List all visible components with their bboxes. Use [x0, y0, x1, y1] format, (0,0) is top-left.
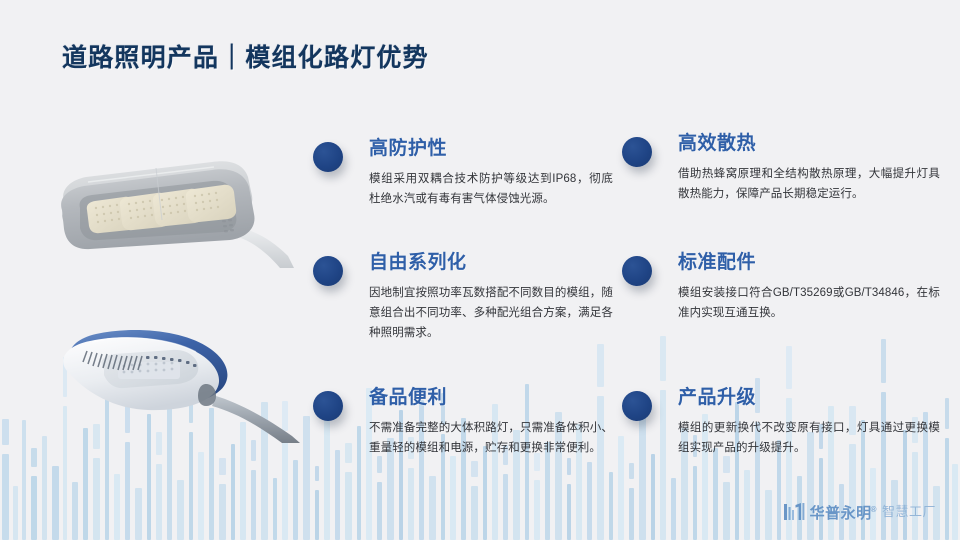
skyline-bar-stub — [315, 466, 319, 481]
feature-block-3: 标准配件 模组安装接口符合GB/T35269或GB/T34846，在标准内实现互… — [622, 252, 940, 323]
bullet-dot-icon — [313, 142, 343, 172]
skyline-bar — [2, 454, 9, 540]
brand-logo: 华普永明® 智慧工厂 — [783, 501, 936, 523]
skyline-bar — [273, 478, 277, 540]
feature-block-2: 自由系列化 因地制宜按照功率瓦数搭配不同数目的模组，随意组合出不同功率、多种配光… — [313, 252, 613, 343]
skyline-bar — [315, 490, 319, 540]
feature-text-1: 借助热蜂窝原理和全结构散热原理，大幅提升灯具散热能力，保障产品长期稳定运行。 — [678, 164, 940, 204]
feature-text-3: 模组安装接口符合GB/T35269或GB/T34846，在标准内实现互通互换。 — [678, 283, 940, 323]
skyline-bar — [609, 472, 613, 540]
led-street-lamp-gray-image — [36, 150, 294, 270]
feature-block-4: 备品便利 不需准备完整的大体积路灯，只需准备体积小、重量轻的模组和电源，贮存和更… — [313, 387, 613, 458]
skyline-bar — [13, 486, 18, 540]
skyline-bar — [52, 466, 59, 540]
skyline-bar — [156, 464, 162, 540]
skyline-bar — [483, 446, 487, 540]
skyline-bar-stub — [377, 456, 382, 473]
feature-title-5: 产品升级 — [678, 387, 940, 409]
skyline-bar — [42, 436, 47, 540]
skyline-bar — [377, 482, 382, 540]
skyline-bar — [114, 474, 120, 540]
skyline-bar — [93, 458, 100, 540]
skyline-bar-stub — [881, 339, 886, 383]
skyline-bar — [135, 488, 142, 540]
logo-brand-text: 华普永明® — [810, 501, 877, 523]
feature-text-5: 模组的更新换代不改变原有接口，灯具通过更换模组实现产品的升级提升。 — [678, 418, 940, 458]
led-street-lamp-blue-image — [20, 318, 300, 443]
skyline-bar-stub — [945, 398, 949, 429]
skyline-bar — [303, 416, 310, 540]
skyline-bar — [231, 444, 235, 540]
skyline-bar-stub — [219, 458, 226, 475]
skyline-bar-stub — [786, 346, 792, 389]
feature-title-1: 高效散热 — [678, 133, 940, 155]
skyline-bar — [629, 488, 634, 540]
skyline-bar — [31, 476, 37, 540]
feature-title-0: 高防护性 — [369, 138, 613, 160]
logo-registered-mark: ® — [871, 505, 877, 514]
skyline-bar — [765, 490, 772, 540]
skyline-bar — [219, 484, 226, 540]
skyline-bar — [587, 462, 592, 540]
feature-block-1: 高效散热 借助热蜂窝原理和全结构散热原理，大幅提升灯具散热能力，保障产品长期稳定… — [622, 133, 940, 204]
skyline-bar — [198, 452, 204, 540]
skyline-bar-stub — [629, 463, 634, 479]
skyline-bar — [72, 482, 78, 540]
feature-block-5: 产品升级 模组的更新换代不改变原有接口，灯具通过更换模组实现产品的升级提升。 — [622, 387, 940, 458]
skyline-bar — [450, 456, 456, 540]
skyline-bar — [651, 454, 655, 540]
skyline-bar — [335, 450, 340, 540]
skyline-bar-stub — [597, 344, 604, 387]
skyline-bar — [471, 486, 478, 540]
skyline-bar-stub — [31, 448, 37, 467]
skyline-bar — [713, 448, 718, 540]
bullet-dot-icon — [313, 256, 343, 286]
skyline-bar — [408, 468, 414, 540]
feature-text-2: 因地制宜按照功率瓦数搭配不同数目的模组，随意组合出不同功率、多种配光组合方案，满… — [369, 283, 613, 343]
bullet-dot-icon — [622, 137, 652, 167]
skyline-bar — [503, 474, 508, 540]
skyline-bar — [282, 440, 288, 540]
skyline-bar — [345, 472, 352, 540]
bullet-dot-icon — [622, 256, 652, 286]
skyline-bar — [293, 460, 298, 540]
logo-tagline: 智慧工厂 — [882, 503, 936, 521]
feature-text-4: 不需准备完整的大体积路灯，只需准备体积小、重量轻的模组和电源，贮存和更换非常便利… — [369, 418, 613, 458]
skyline-bar — [534, 480, 540, 540]
skyline-bar — [693, 466, 697, 540]
feature-title-3: 标准配件 — [678, 252, 940, 274]
skyline-bar — [429, 476, 436, 540]
logo-brand-name: 华普永明 — [810, 505, 872, 522]
skyline-bar-stub — [567, 458, 571, 475]
skyline-bar — [177, 480, 184, 540]
skyline-bar-stub — [2, 419, 9, 445]
skyline-bar — [125, 442, 130, 540]
skyline-bar — [83, 428, 88, 540]
slide-canvas: 道路照明产品｜模组化路灯优势 — [0, 0, 960, 540]
skyline-bar — [945, 438, 949, 540]
skyline-bar-stub — [251, 440, 256, 461]
feature-title-2: 自由系列化 — [369, 252, 613, 274]
skyline-bar — [671, 478, 676, 540]
skyline-bar — [189, 432, 193, 540]
skyline-bar — [251, 470, 256, 540]
skyline-bar — [567, 484, 571, 540]
skyline-bar-stub — [471, 461, 478, 477]
skyline-bar-stub — [723, 456, 730, 473]
huapu-logo-icon — [783, 502, 805, 522]
skyline-bar — [849, 444, 856, 540]
skyline-bar — [819, 458, 823, 540]
feature-text-0: 模组采用双耦合技术防护等级达到IP68，彻底杜绝水汽或有毒有害气体侵蚀光源。 — [369, 169, 613, 209]
skyline-bar-stub — [660, 336, 666, 381]
title-block: 道路照明产品｜模组化路灯优势 — [62, 38, 762, 82]
skyline-bar — [744, 470, 750, 540]
skyline-bar — [952, 464, 958, 540]
feature-title-4: 备品便利 — [369, 387, 613, 409]
feature-block-0: 高防护性 模组采用双耦合技术防护等级达到IP68，彻底杜绝水汽或有毒有害气体侵蚀… — [313, 138, 613, 209]
bullet-dot-icon — [313, 391, 343, 421]
skyline-bar — [723, 482, 730, 540]
skyline-bar — [912, 452, 918, 540]
bullet-dot-icon — [622, 391, 652, 421]
page-title: 道路照明产品｜模组化路灯优势 — [62, 38, 762, 78]
